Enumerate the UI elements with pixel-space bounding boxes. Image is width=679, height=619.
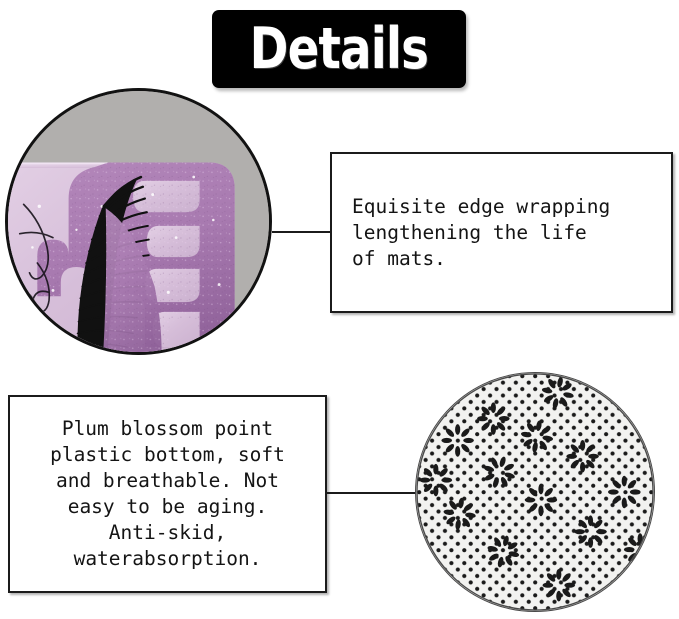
details-title-banner: Details bbox=[212, 10, 466, 88]
connector-line-top bbox=[272, 231, 332, 233]
page-title: Details bbox=[250, 21, 429, 78]
figure-edge-closeup bbox=[5, 88, 272, 355]
connector-line-bottom bbox=[327, 492, 419, 494]
callout-edge-wrapping-text: Equisite edge wrapping lengthening the l… bbox=[346, 194, 657, 272]
figure-backing-closeup bbox=[415, 372, 655, 612]
callout-anti-skid-text: Plum blossom point plastic bottom, soft … bbox=[20, 416, 315, 572]
callout-edge-wrapping: Equisite edge wrapping lengthening the l… bbox=[330, 152, 673, 313]
callout-anti-skid: Plum blossom point plastic bottom, soft … bbox=[8, 395, 327, 593]
details-infographic: Details bbox=[0, 0, 679, 619]
